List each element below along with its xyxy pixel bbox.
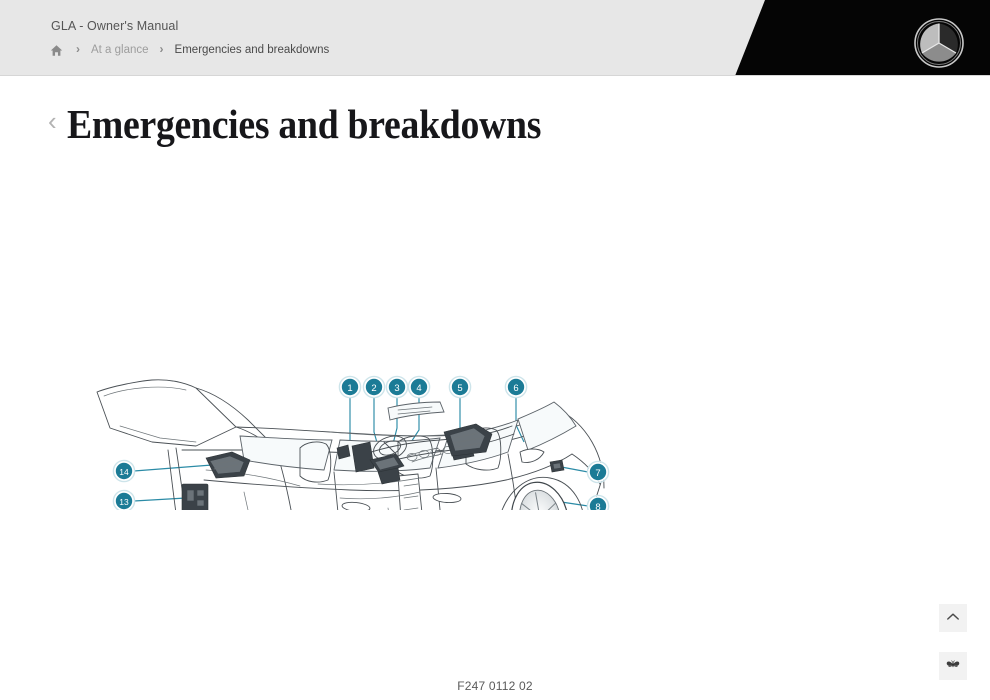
scroll-to-top-button[interactable]: [939, 604, 967, 632]
callout-4[interactable]: 4: [408, 376, 429, 397]
callout-label: 2: [371, 383, 376, 394]
callout-label: 14: [119, 467, 129, 477]
callout-14[interactable]: 14: [113, 460, 134, 481]
manual-title: GLA - Owner's Manual: [51, 19, 178, 33]
callout-label: 1: [347, 383, 352, 394]
callout-label: 13: [119, 497, 129, 507]
callout-label: 5: [457, 383, 462, 394]
callout-2[interactable]: 2: [363, 376, 384, 397]
breadcrumb-item-current: Emergencies and breakdowns: [175, 44, 330, 56]
vehicle-diagram-figure: .ln { fill:none; stroke:#4a5055; stroke-…: [0, 180, 990, 510]
callout-6[interactable]: 6: [505, 376, 526, 397]
breadcrumb-item-at-a-glance[interactable]: At a glance: [91, 44, 149, 56]
page-title-row: ‹ Emergencies and breakdowns: [0, 98, 700, 150]
callout-5[interactable]: 5: [449, 376, 470, 397]
breadcrumb-separator-2: ›: [160, 43, 164, 55]
figure-caption: F247 0112 02: [0, 679, 990, 693]
callout-1[interactable]: 1: [339, 376, 360, 397]
home-icon[interactable]: [50, 44, 63, 57]
callout-13[interactable]: 13: [113, 490, 134, 510]
page-title: Emergencies and breakdowns: [67, 104, 541, 145]
callout-8[interactable]: 8: [587, 495, 608, 510]
app-header: GLA - Owner's Manual › At a glance › Eme…: [0, 0, 990, 76]
vehicle-illustration: .ln { fill:none; stroke:#4a5055; stroke-…: [0, 180, 990, 510]
back-chevron-icon[interactable]: ‹: [48, 108, 57, 134]
feedback-button[interactable]: [939, 652, 967, 680]
callout-label: 4: [416, 383, 421, 394]
callout-label: 3: [394, 383, 399, 394]
callout-7[interactable]: 7: [587, 461, 608, 482]
breadcrumb: › At a glance › Emergencies and breakdow…: [50, 41, 329, 58]
callout-3[interactable]: 3: [386, 376, 407, 397]
callout-label: 7: [595, 468, 600, 479]
breadcrumb-separator-1: ›: [76, 43, 80, 55]
butterfly-icon: [945, 657, 961, 676]
callout-label: 8: [595, 502, 600, 510]
callout-label: 6: [513, 383, 518, 394]
mercedes-benz-star-icon: [913, 17, 965, 69]
chevron-up-icon: [945, 609, 961, 628]
